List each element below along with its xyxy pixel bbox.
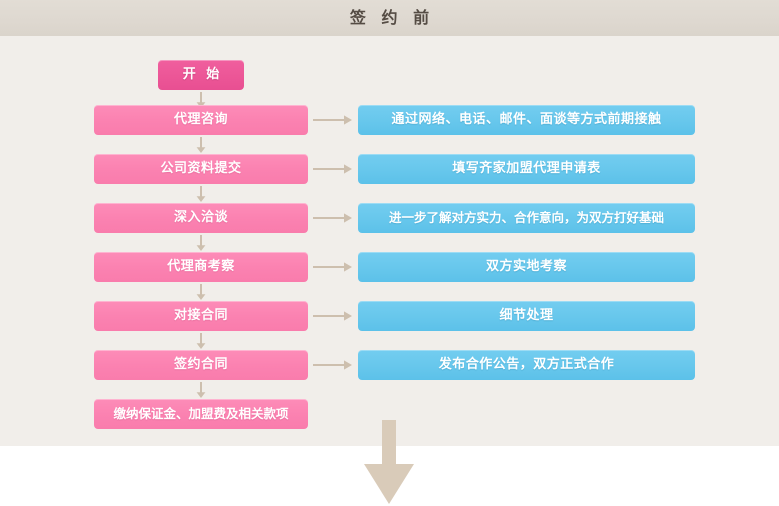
flow-detail-4[interactable]: 双方实地考察 (358, 252, 695, 282)
signing-process-panel: 签 约 前 开 始 代理咨询 通过网络、电话、邮件、面谈等方式前期接触 (0, 0, 779, 446)
arrow-right-icon (313, 358, 353, 372)
flow-row-2: 公司资料提交 填写齐家加盟代理申请表 (0, 154, 779, 184)
flow-row-5: 对接合同 细节处理 (0, 301, 779, 331)
arrow-down-icon (194, 186, 208, 203)
flow-row-6: 签约合同 发布合作公告，双方正式合作 (0, 350, 779, 380)
arrow-right-icon (313, 211, 353, 225)
flow-node-step-2[interactable]: 公司资料提交 (94, 154, 308, 184)
arrow-right-icon (313, 260, 353, 274)
arrow-down-icon (194, 333, 208, 350)
flow-detail-2[interactable]: 填写齐家加盟代理申请表 (358, 154, 695, 184)
flow-node-step-3[interactable]: 深入洽谈 (94, 203, 308, 233)
arrow-down-icon (194, 137, 208, 154)
arrow-down-icon (194, 235, 208, 252)
flow-detail-6[interactable]: 发布合作公告，双方正式合作 (358, 350, 695, 380)
flow-detail-5[interactable]: 细节处理 (358, 301, 695, 331)
flow-node-step-4[interactable]: 代理商考察 (94, 252, 308, 282)
flow-detail-3[interactable]: 进一步了解对方实力、合作意向，为双方打好基础 (358, 203, 695, 233)
flow-row-1: 代理咨询 通过网络、电话、邮件、面谈等方式前期接触 (0, 105, 779, 135)
flow-node-final[interactable]: 缴纳保证金、加盟费及相关款项 (94, 399, 308, 429)
flow-row-start: 开 始 (0, 60, 779, 90)
flow-node-step-5[interactable]: 对接合同 (94, 301, 308, 331)
flow-row-3: 深入洽谈 进一步了解对方实力、合作意向，为双方打好基础 (0, 203, 779, 233)
arrow-down-icon (194, 284, 208, 301)
flow-row-4: 代理商考察 双方实地考察 (0, 252, 779, 282)
flow-node-step-1[interactable]: 代理咨询 (94, 105, 308, 135)
flowchart-screen: 签 约 前 开 始 代理咨询 通过网络、电话、邮件、面谈等方式前期接触 (0, 0, 779, 506)
flow-node-start[interactable]: 开 始 (158, 60, 244, 90)
page-title: 签 约 前 (0, 0, 779, 36)
arrow-down-icon (194, 382, 208, 399)
arrow-right-icon (313, 113, 353, 127)
arrow-right-icon (313, 309, 353, 323)
flow-detail-1[interactable]: 通过网络、电话、邮件、面谈等方式前期接触 (358, 105, 695, 135)
large-arrow-down-icon (358, 420, 420, 506)
flow-node-step-6[interactable]: 签约合同 (94, 350, 308, 380)
arrow-right-icon (313, 162, 353, 176)
